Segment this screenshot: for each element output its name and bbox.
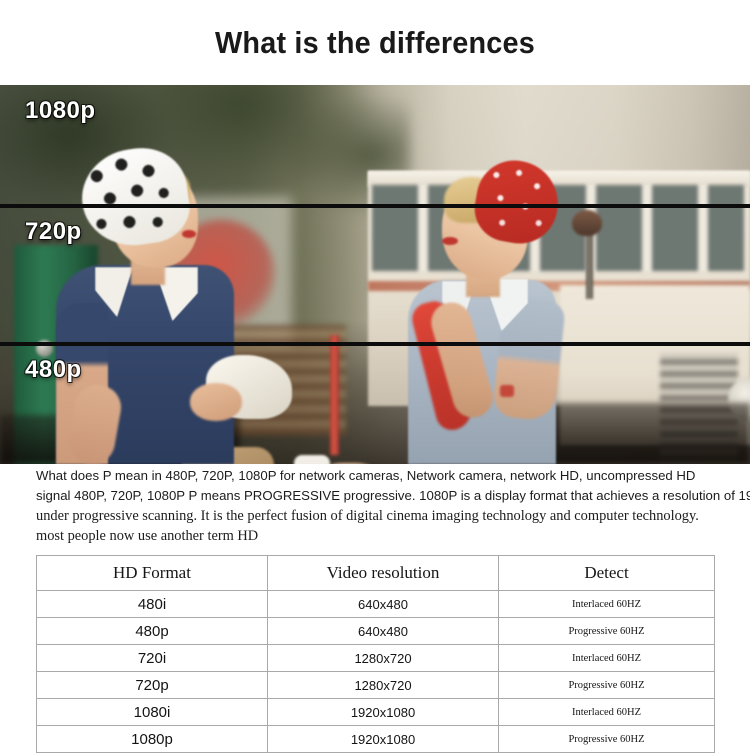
woman-left [0, 85, 380, 464]
label-480p: 480p [25, 356, 82, 384]
table-row: 1080p 1920x1080 Progressive 60HZ [37, 726, 715, 753]
column-header-video-resolution: Video resolution [268, 556, 499, 591]
divider-720p-480p [0, 342, 750, 346]
paragraph-line-4: most people now use another term HD [36, 526, 750, 546]
hd-format-table: HD Format Video resolution Detect 480i 6… [36, 555, 715, 753]
woman-left-lips [182, 230, 196, 238]
label-1080p: 1080p [25, 97, 96, 125]
uniform-badge [500, 385, 514, 397]
milk-bottle [294, 455, 330, 464]
table-header-row: HD Format Video resolution Detect [37, 556, 715, 591]
cell-video-resolution: 1280x720 [268, 672, 499, 699]
cell-video-resolution: 1280x720 [268, 645, 499, 672]
cell-detect: Interlaced 60HZ [499, 645, 715, 672]
cell-detect: Progressive 60HZ [499, 726, 715, 753]
table-row: 480p 640x480 Progressive 60HZ [37, 618, 715, 645]
paragraph-line-2: signal 480P, 720P, 1080P P means PROGRES… [36, 486, 750, 506]
paragraph-line-3: under progressive scanning. It is the pe… [36, 506, 750, 526]
column-header-detect: Detect [499, 556, 715, 591]
divider-1080p-720p [0, 204, 750, 208]
cell-detect: Interlaced 60HZ [499, 591, 715, 618]
cell-hd-format: 480i [37, 591, 268, 618]
cell-video-resolution: 640x480 [268, 591, 499, 618]
cell-hd-format: 1080i [37, 699, 268, 726]
table-row: 720i 1280x720 Interlaced 60HZ [37, 645, 715, 672]
cell-hd-format: 1080p [37, 726, 268, 753]
cell-video-resolution: 1920x1080 [268, 726, 499, 753]
column-header-hd-format: HD Format [37, 556, 268, 591]
table-row: 720p 1280x720 Progressive 60HZ [37, 672, 715, 699]
cell-hd-format: 480p [37, 618, 268, 645]
cell-detect: Progressive 60HZ [499, 618, 715, 645]
cell-detect: Interlaced 60HZ [499, 699, 715, 726]
woman-right [380, 85, 680, 464]
page-header: What is the differences [0, 0, 750, 85]
cell-video-resolution: 640x480 [268, 618, 499, 645]
woman-left-hand [190, 383, 242, 421]
description-paragraph: What does P mean in 480P, 720P, 1080P fo… [36, 466, 750, 546]
table-row: 480i 640x480 Interlaced 60HZ [37, 591, 715, 618]
woman-right-lips [442, 237, 458, 245]
table-row: 1080i 1920x1080 Interlaced 60HZ [37, 699, 715, 726]
resolution-comparison-photo: 1080p 720p 480p [0, 85, 750, 464]
cell-hd-format: 720i [37, 645, 268, 672]
page-title: What is the differences [215, 25, 535, 61]
label-720p: 720p [25, 218, 82, 246]
paragraph-line-1: What does P mean in 480P, 720P, 1080P fo… [36, 466, 750, 486]
cell-hd-format: 720p [37, 672, 268, 699]
cell-video-resolution: 1920x1080 [268, 699, 499, 726]
cell-detect: Progressive 60HZ [499, 672, 715, 699]
